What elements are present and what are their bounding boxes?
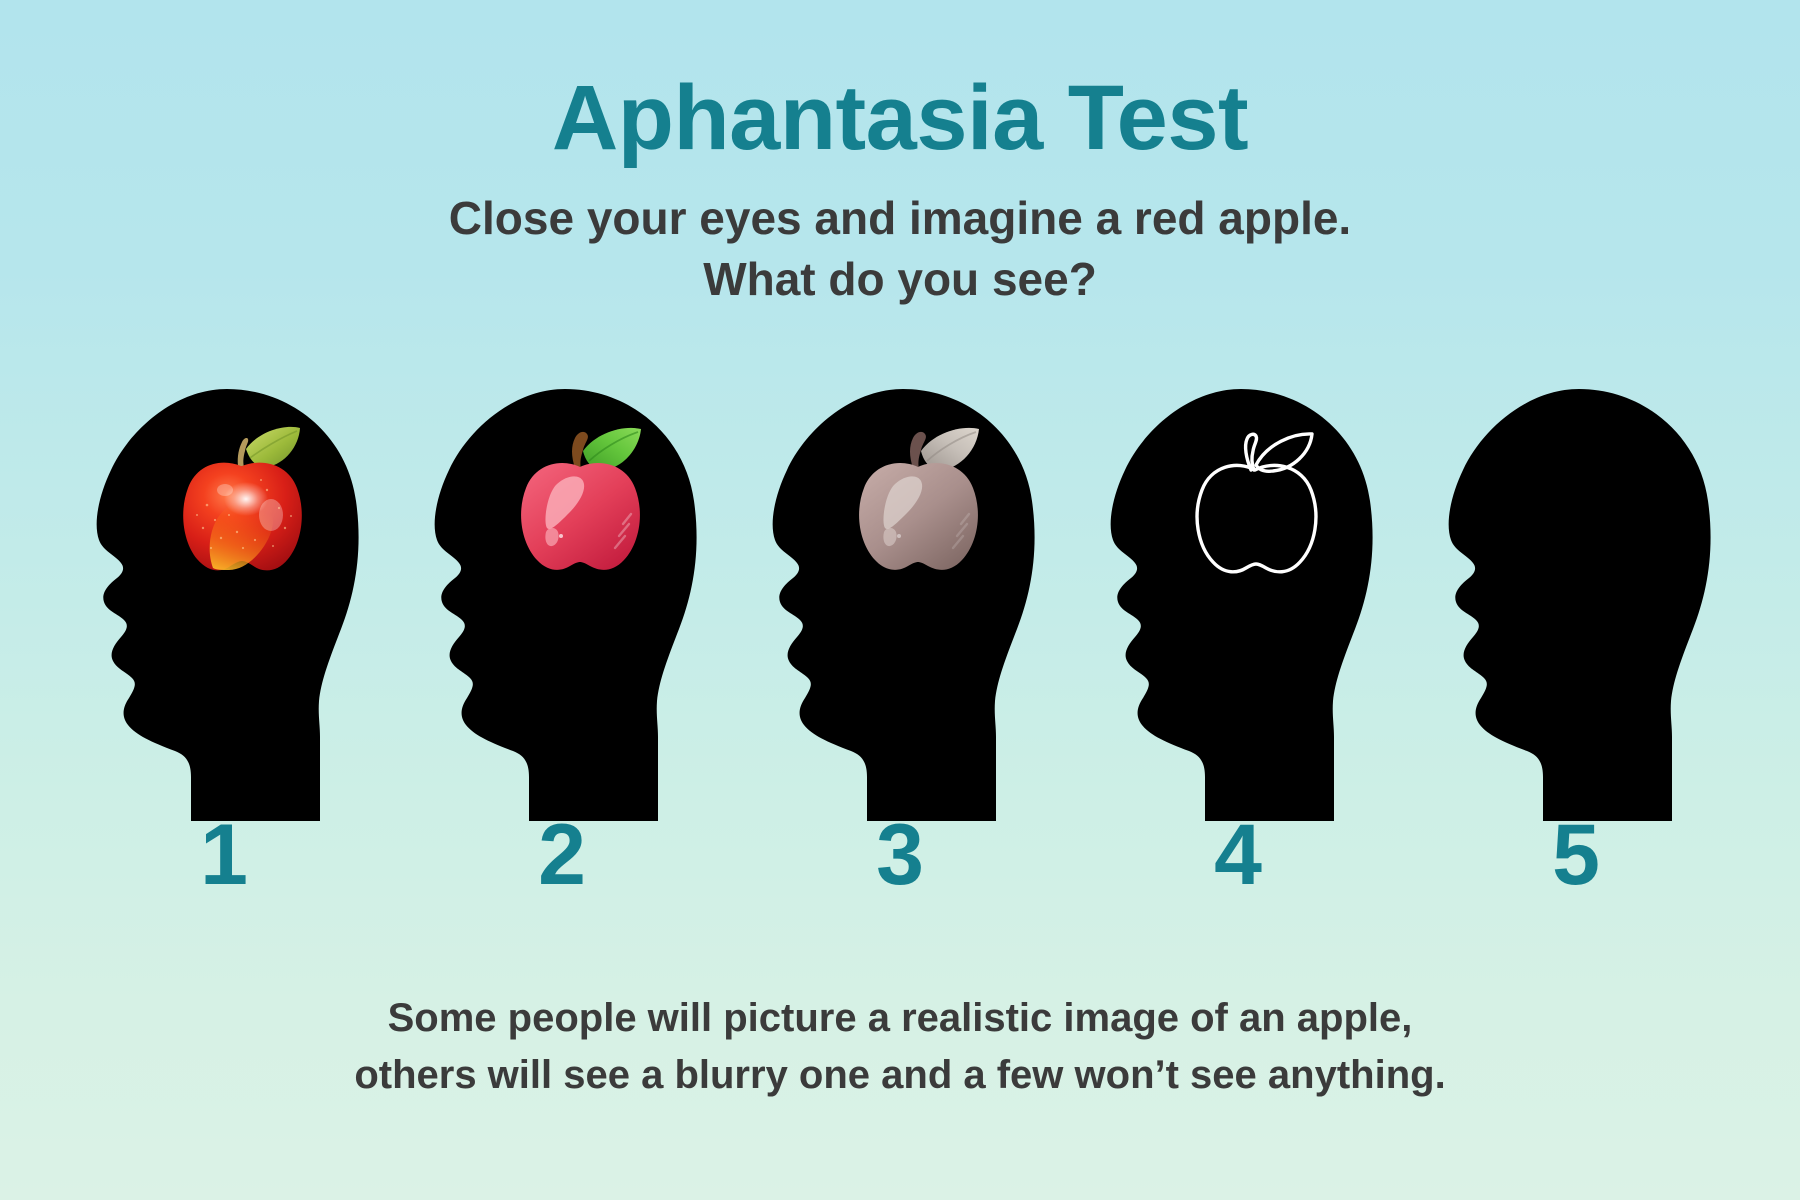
page-subtitle: Close your eyes and imagine a red apple.… <box>0 164 1800 309</box>
apple-dot-highlight <box>559 534 563 538</box>
subtitle-line-1: Close your eyes and imagine a red apple. <box>0 188 1800 249</box>
apple-small-highlight <box>217 484 233 496</box>
apple-vector-icon <box>505 420 655 585</box>
apple-slot-1 <box>167 420 317 585</box>
aphantasia-test-poster: Aphantasia Test Close your eyes and imag… <box>0 0 1800 1200</box>
scale-item-3[interactable] <box>755 385 1045 825</box>
scale-item-5[interactable] <box>1431 385 1721 825</box>
scale-number-2: 2 <box>417 812 707 898</box>
apple-secondary-highlight <box>259 499 283 531</box>
scale-number-1: 1 <box>79 812 369 898</box>
apple-slot-2 <box>505 420 655 585</box>
footer-caption: Some people will picture a realistic ima… <box>0 990 1800 1104</box>
apple-stem <box>238 438 248 467</box>
apple-body-outline <box>1197 465 1316 571</box>
scale-number-3: 3 <box>755 812 1045 898</box>
page-title: Aphantasia Test <box>0 0 1800 164</box>
header: Aphantasia Test Close your eyes and imag… <box>0 0 1800 309</box>
apple-photorealistic-icon <box>167 420 317 585</box>
apple-dot-highlight <box>897 534 901 538</box>
caption-line-2: others will see a blurry one and a few w… <box>0 1047 1800 1104</box>
apple-outline-icon <box>1181 420 1331 585</box>
footer: Some people will picture a realistic ima… <box>0 990 1800 1104</box>
subtitle-line-2: What do you see? <box>0 249 1800 310</box>
scale-number-4: 4 <box>1093 812 1383 898</box>
head-silhouettes-row <box>0 385 1800 825</box>
apple-slot-3 <box>843 420 993 585</box>
scale-item-1[interactable] <box>79 385 369 825</box>
apple-slot-4 <box>1181 420 1331 585</box>
scale-numbers-row: 1 2 3 4 5 <box>0 800 1800 910</box>
scale-item-2[interactable] <box>417 385 707 825</box>
apple-faded-icon <box>843 420 993 585</box>
scale-number-5: 5 <box>1431 812 1721 898</box>
caption-line-1: Some people will picture a realistic ima… <box>0 990 1800 1047</box>
apple-slot-5 <box>1519 420 1669 585</box>
scale-item-4[interactable] <box>1093 385 1383 825</box>
